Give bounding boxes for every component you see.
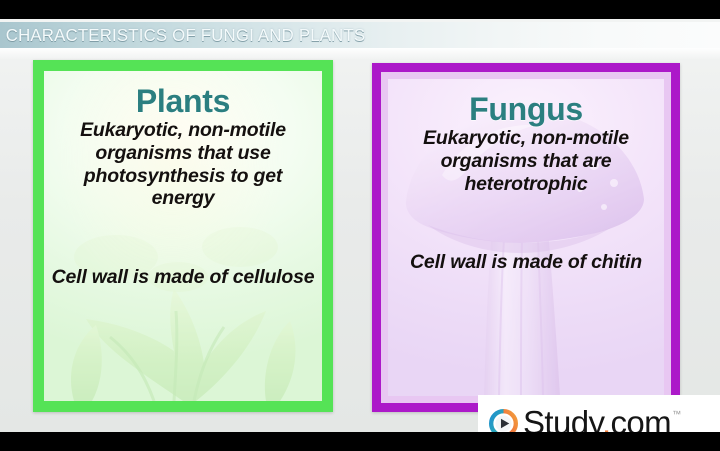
page-title: CHARACTERISTICS OF FUNGI AND PLANTS bbox=[0, 25, 365, 46]
fungus-card-inner: Fungus Eukaryotic, non-motile organisms … bbox=[388, 79, 664, 396]
studycom-watermark[interactable]: Study.com ™ bbox=[478, 395, 720, 432]
fungus-heading: Fungus bbox=[394, 93, 658, 125]
studycom-trademark: ™ bbox=[672, 409, 681, 419]
studycom-tld: com bbox=[611, 404, 672, 433]
plants-paragraph-1: Eukaryotic, non-motile organisms that us… bbox=[50, 119, 316, 210]
fungus-paragraph-2: Cell wall is made of chitin bbox=[394, 251, 658, 274]
fungus-paragraph-1: Eukaryotic, non-motile organisms that ar… bbox=[394, 127, 658, 195]
banner-underglow bbox=[0, 48, 720, 60]
fungus-paragraph-spacer bbox=[394, 195, 658, 251]
plants-card: Plants Eukaryotic, non-motile organisms … bbox=[33, 60, 333, 412]
plants-paragraph-2: Cell wall is made of cellulose bbox=[50, 266, 316, 289]
screenshot-stage: CHARACTERISTICS OF FUNGI AND PLANTS bbox=[0, 0, 720, 451]
plants-heading: Plants bbox=[50, 85, 316, 117]
slide-title-banner: CHARACTERISTICS OF FUNGI AND PLANTS bbox=[0, 22, 720, 48]
plants-card-inner: Plants Eukaryotic, non-motile organisms … bbox=[44, 71, 322, 401]
play-circle-icon bbox=[489, 409, 518, 433]
fungus-card: Fungus Eukaryotic, non-motile organisms … bbox=[372, 63, 680, 412]
fungus-card-body: Fungus Eukaryotic, non-motile organisms … bbox=[388, 93, 664, 274]
plants-card-body: Plants Eukaryotic, non-motile organisms … bbox=[44, 85, 322, 289]
studycom-brand: Study bbox=[523, 404, 602, 433]
letterbox-bar-top bbox=[0, 0, 720, 19]
plants-paragraph-spacer bbox=[50, 210, 316, 266]
slide-canvas: CHARACTERISTICS OF FUNGI AND PLANTS bbox=[0, 19, 720, 432]
studycom-wordmark: Study.com bbox=[523, 406, 671, 433]
letterbox-bar-bottom bbox=[0, 432, 720, 451]
studycom-dot: . bbox=[602, 404, 611, 433]
